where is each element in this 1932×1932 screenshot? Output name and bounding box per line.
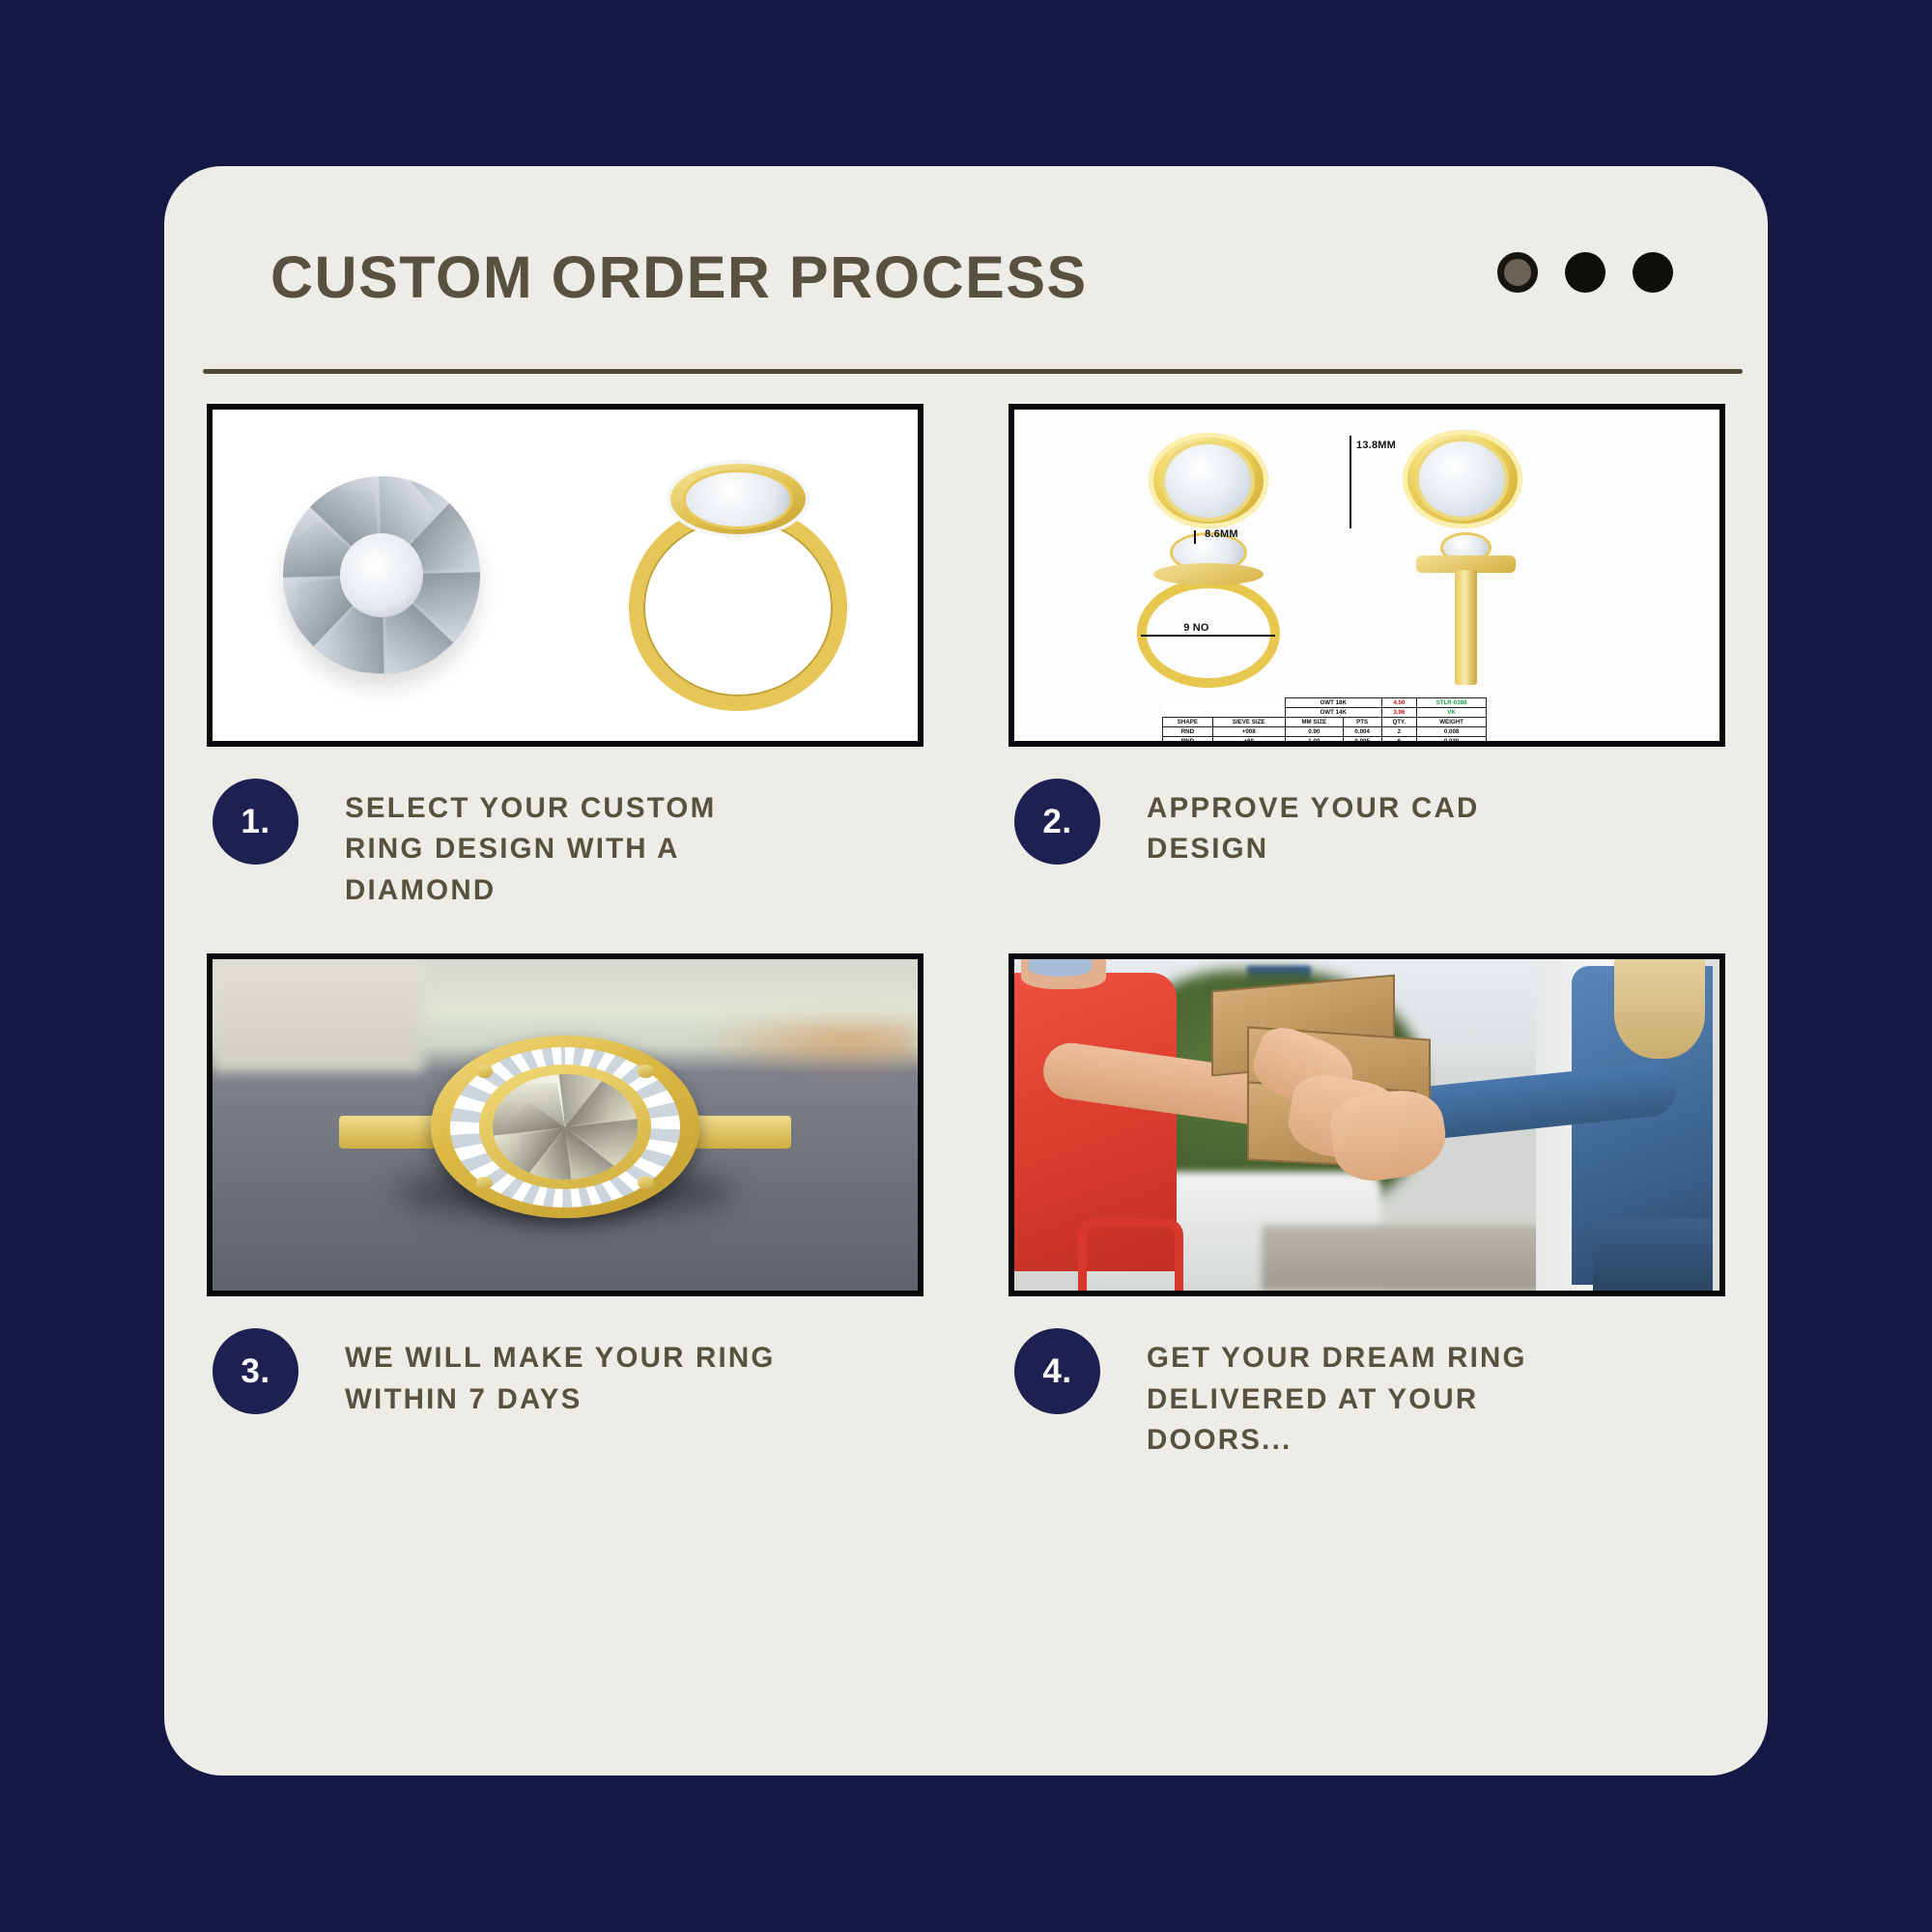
loose-diamond-icon: [283, 476, 480, 675]
cad-col-shape: SHAPE: [1163, 718, 1212, 727]
cad-col-pts: PTS: [1343, 718, 1381, 727]
card-header: CUSTOM ORDER PROCESS: [164, 166, 1768, 375]
cad-dim-label-13-8mm: 13.8MM: [1356, 440, 1396, 451]
step-2-caption: 2. APPROVE YOUR CAD DESIGN: [1009, 779, 1725, 870]
cad-gwt-18k-label: GWT 18K: [1285, 698, 1381, 708]
halo-ring-icon: [431, 1036, 698, 1218]
cad-dim-label-size: 9 NO: [1183, 622, 1208, 634]
cad-initials: VK: [1417, 708, 1487, 718]
cad-gwt-14k-value: 3.96: [1381, 708, 1417, 718]
step-card-4[interactable]: 4. GET YOUR DREAM RING DELIVERED AT YOUR…: [966, 953, 1768, 1461]
step-4-number-badge: 4.: [1014, 1328, 1100, 1414]
cad-dim-line-size: [1141, 635, 1275, 637]
cad-style-code: STLR-0388: [1417, 698, 1487, 708]
cad-gwt-18k-value: 4.50: [1381, 698, 1417, 708]
cad-dim-label-8-6mm: 8.6MM: [1205, 528, 1238, 540]
steps-row-2: 3. WE WILL MAKE YOUR RING WITHIN 7 DAYS: [164, 953, 1768, 1461]
cad-table-row: RND +80 1.00 0.005 6 0.030: [1163, 737, 1487, 747]
step-3-label: WE WILL MAKE YOUR RING WITHIN 7 DAYS: [345, 1338, 799, 1420]
steps-row-1: 1. SELECT YOUR CUSTOM RING DESIGN WITH A…: [164, 404, 1768, 911]
parcel-handover-photo: [1009, 953, 1725, 1296]
cad-col-mm-size: MM SIZE: [1285, 718, 1343, 727]
cad-dim-line-8-6mm: [1194, 530, 1196, 544]
steps-grid: 1. SELECT YOUR CUSTOM RING DESIGN WITH A…: [164, 404, 1768, 1462]
face-mask-icon: [1029, 959, 1093, 976]
step-1-caption: 1. SELECT YOUR CUSTOM RING DESIGN WITH A…: [207, 779, 923, 911]
cad-table-row: RND +008 0.90 0.004 2 0.008: [1163, 727, 1487, 737]
hand-truck-icon: [1078, 1218, 1184, 1291]
ring-shank-right: [692, 1116, 790, 1149]
cad-view-profile: [1127, 535, 1290, 691]
step-4-caption: 4. GET YOUR DREAM RING DELIVERED AT YOUR…: [1009, 1328, 1725, 1461]
window-controls[interactable]: [1497, 252, 1673, 293]
step-3-caption: 3. WE WILL MAKE YOUR RING WITHIN 7 DAYS: [207, 1328, 923, 1420]
step-2-number-badge: 2.: [1014, 779, 1100, 865]
step-card-1[interactable]: 1. SELECT YOUR CUSTOM RING DESIGN WITH A…: [164, 404, 966, 911]
cad-col-sieve-size: SIEVE SIZE: [1212, 718, 1285, 727]
step-1-label: SELECT YOUR CUSTOM RING DESIGN WITH A DI…: [345, 788, 799, 911]
center-stone-icon: [493, 1074, 638, 1179]
header-divider: [203, 369, 1743, 374]
cad-view-side: [1409, 535, 1522, 691]
step-card-2[interactable]: 13.8MM 8.6MM 9 NO: [966, 404, 1768, 911]
cad-table-header-row: SHAPE SIEVE SIZE MM SIZE PTS QTY. WEIGHT: [1163, 718, 1487, 727]
cad-col-qty: QTY.: [1381, 718, 1417, 727]
cad-stone-spec-table: GWT 18K 4.50 STLR-0388 GWT 14K 3.96 VK S…: [1162, 697, 1487, 747]
page-title: CUSTOM ORDER PROCESS: [270, 243, 1088, 311]
window-dot-ringed-icon[interactable]: [1497, 252, 1538, 293]
halo-ring-icon: [629, 440, 847, 711]
step-1-number-badge: 1.: [213, 779, 298, 865]
window-dot-solid-1-icon[interactable]: [1565, 252, 1605, 293]
ring-shank-left: [339, 1116, 438, 1149]
step-2-label: APPROVE YOUR CAD DESIGN: [1147, 788, 1562, 870]
window-dot-solid-2-icon[interactable]: [1633, 252, 1673, 293]
finished-ring-photo: [207, 953, 923, 1296]
cad-dim-line-13-8mm: [1350, 436, 1351, 528]
cad-view-angled: [1403, 430, 1522, 529]
step-card-3[interactable]: 3. WE WILL MAKE YOUR RING WITHIN 7 DAYS: [164, 953, 966, 1461]
cad-view-front: [1149, 433, 1268, 528]
cad-col-weight: WEIGHT: [1417, 718, 1487, 727]
loose-diamond-and-halo-ring-photo: [207, 404, 923, 747]
process-card: CUSTOM ORDER PROCESS: [164, 166, 1768, 1776]
cad-technical-drawing: 13.8MM 8.6MM 9 NO: [1009, 404, 1725, 747]
cad-gwt-14k-label: GWT 14K: [1285, 708, 1381, 718]
step-4-label: GET YOUR DREAM RING DELIVERED AT YOUR DO…: [1147, 1338, 1562, 1461]
step-3-number-badge: 3.: [213, 1328, 298, 1414]
